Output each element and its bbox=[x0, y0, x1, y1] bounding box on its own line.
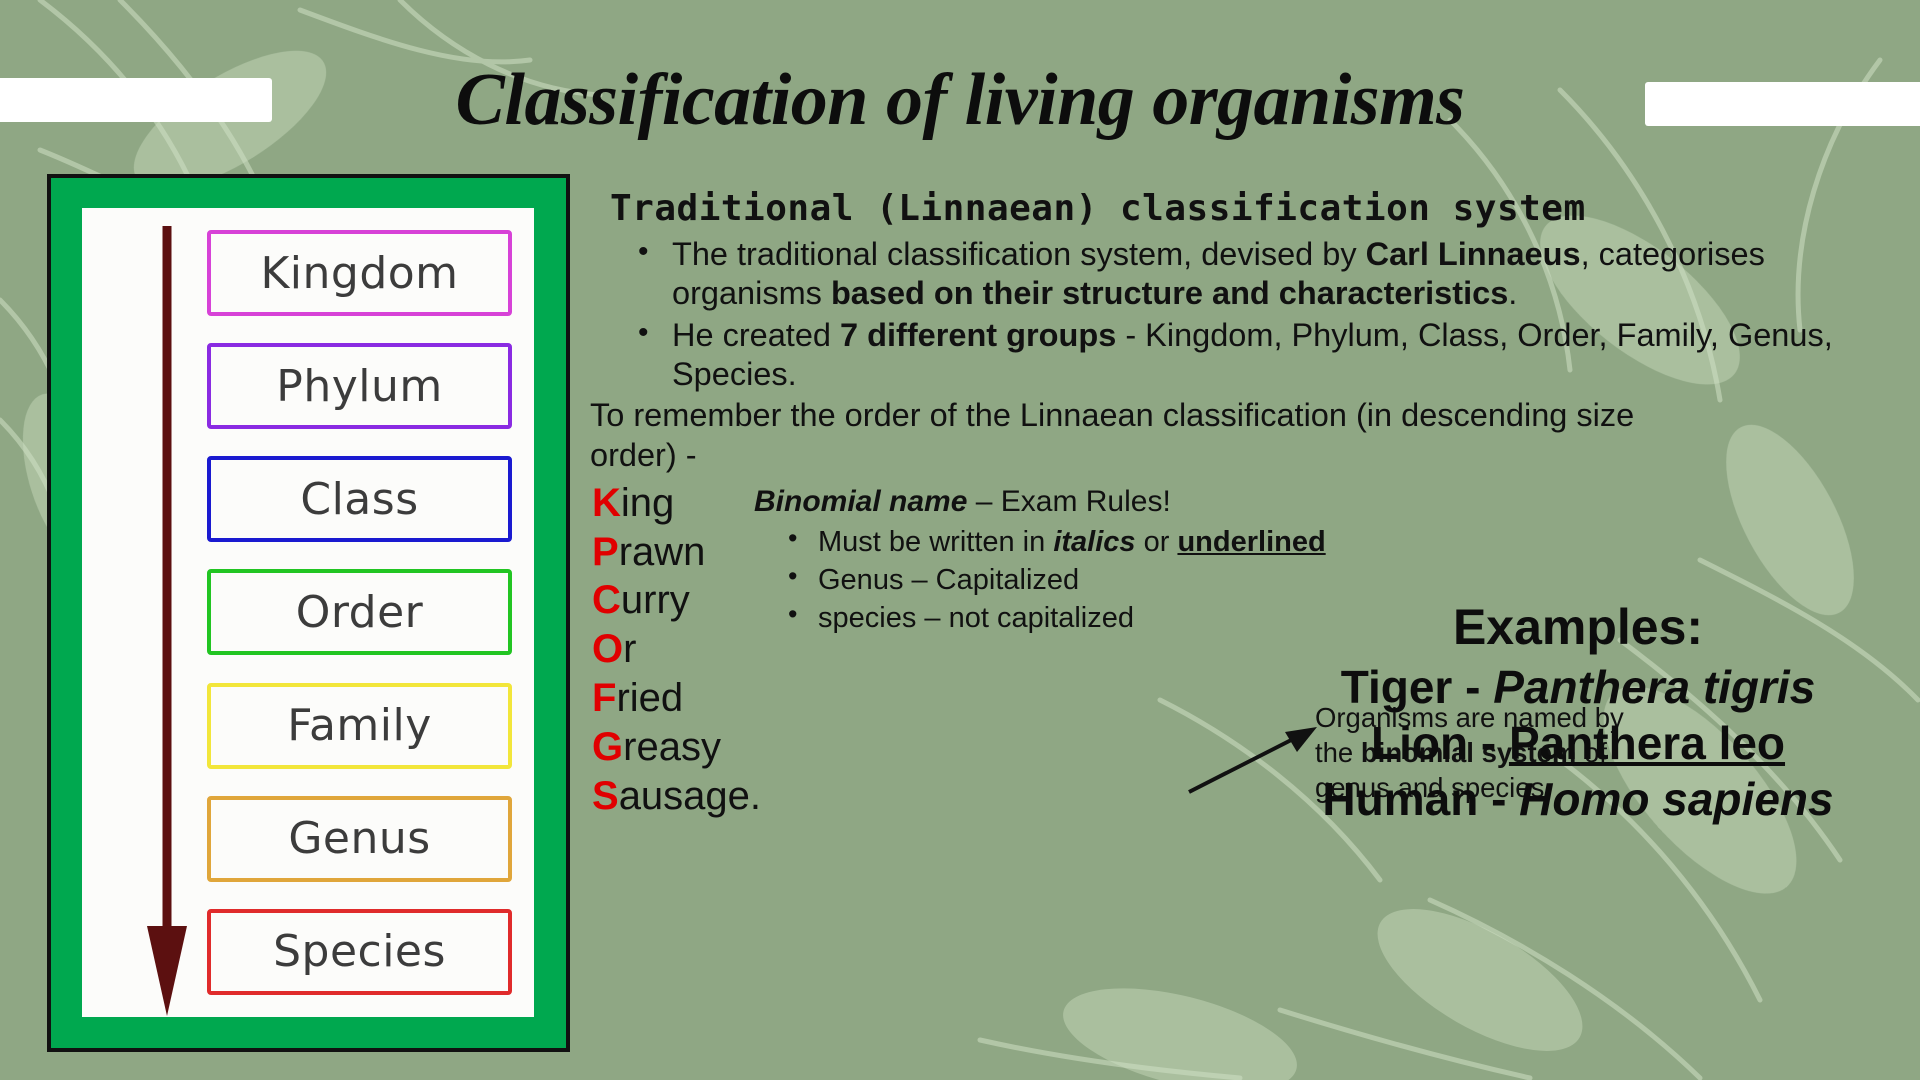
linnaean-system-heading: Traditional (Linnaean) classification sy… bbox=[610, 188, 1910, 229]
rank-box-phylum: Phylum bbox=[207, 343, 512, 429]
text-part-0: Must be written in bbox=[818, 526, 1053, 558]
mnemonic-word-6: Greasy bbox=[592, 723, 740, 772]
example-line-1: Tiger - Panthera tigris bbox=[1258, 659, 1898, 715]
linnaean-bullet-list: The traditional classification system, d… bbox=[616, 235, 1910, 394]
binomial-name-title: Binomial name – Exam Rules! bbox=[754, 485, 1910, 519]
mnemonic-rest: ing bbox=[621, 481, 674, 525]
mnemonic-initial: F bbox=[592, 676, 616, 720]
text-part-0: Genus – Capitalized bbox=[818, 564, 1079, 596]
text-part-0: species – not capitalized bbox=[818, 602, 1134, 634]
text-part-0: The traditional classification system, d… bbox=[672, 236, 1366, 272]
rank-label: Order bbox=[296, 587, 424, 638]
example-line-2: Lion - Panthera leo bbox=[1258, 715, 1898, 771]
rank-label: Family bbox=[287, 700, 432, 751]
text-part-3: based on their structure and characteris… bbox=[831, 275, 1508, 311]
example-common-name: Tiger - bbox=[1341, 661, 1494, 713]
example-scientific-name: Homo sapiens bbox=[1519, 773, 1833, 825]
rank-box-genus: Genus bbox=[207, 796, 512, 882]
mnemonic-initial: S bbox=[592, 774, 619, 818]
mnemonic-word-7: Sausage. bbox=[592, 772, 740, 821]
rank-box-family: Family bbox=[207, 683, 512, 769]
text-part-1: Carl Linnaeus bbox=[1366, 236, 1581, 272]
mnemonic-intro-text: To remember the order of the Linnaean cl… bbox=[590, 396, 1650, 475]
examples-list: Tiger - Panthera tigrisLion - Panthera l… bbox=[1258, 659, 1898, 827]
text-part-3: underlined bbox=[1177, 526, 1325, 558]
mnemonic-initial: P bbox=[592, 530, 619, 574]
example-line-3: Human - Homo sapiens bbox=[1258, 771, 1898, 827]
text-part-1: 7 different groups bbox=[840, 317, 1116, 353]
binomial-title-rest: – Exam Rules! bbox=[967, 485, 1170, 518]
mnemonic-word-1: King bbox=[592, 479, 740, 528]
example-common-name: Human - bbox=[1322, 773, 1519, 825]
mnemonic-word-4: Or bbox=[592, 625, 740, 674]
mnemonic-word-2: Prawn bbox=[592, 528, 740, 577]
mnemonic-initial: G bbox=[592, 725, 623, 769]
rank-box-class: Class bbox=[207, 456, 512, 542]
example-scientific-name: Panthera leo bbox=[1509, 717, 1785, 769]
mnemonic-initial: K bbox=[592, 481, 621, 525]
rank-label: Phylum bbox=[276, 361, 442, 412]
taxonomy-hierarchy-card: KingdomPhylumClassOrderFamilyGenusSpecie… bbox=[47, 174, 570, 1052]
rank-box-species: Species bbox=[207, 909, 512, 995]
examples-title: Examples: bbox=[1258, 598, 1898, 657]
mnemonic-rest: ried bbox=[616, 676, 683, 720]
mnemonic-word-5: Fried bbox=[592, 674, 740, 723]
rank-label: Genus bbox=[288, 813, 430, 864]
exam-rule-1: Must be written in italics or underlined bbox=[774, 523, 1910, 561]
exam-rule-2: Genus – Capitalized bbox=[774, 561, 1910, 599]
descending-order-arrow-icon bbox=[144, 226, 190, 1016]
rank-label: Kingdom bbox=[260, 248, 458, 299]
examples-block: Examples: Tiger - Panthera tigrisLion - … bbox=[1258, 598, 1898, 827]
page-title: Classification of living organisms bbox=[0, 58, 1920, 143]
example-scientific-name: Panthera tigris bbox=[1493, 661, 1815, 713]
mnemonic-rest: rawn bbox=[619, 530, 706, 574]
binomial-title-bold: Binomial name bbox=[754, 485, 967, 518]
text-part-0: He created bbox=[672, 317, 840, 353]
example-common-name: Lion - bbox=[1371, 717, 1509, 769]
mnemonic-initial: C bbox=[592, 578, 621, 622]
kpcofgs-mnemonic-list: KingPrawnCurryOrFriedGreasySausage. bbox=[590, 479, 740, 821]
rank-box-order: Order bbox=[207, 569, 512, 655]
taxonomy-inner-panel: KingdomPhylumClassOrderFamilyGenusSpecie… bbox=[82, 208, 534, 1017]
rank-label: Class bbox=[300, 474, 418, 525]
rank-label: Species bbox=[273, 926, 446, 977]
mnemonic-rest: r bbox=[623, 627, 636, 671]
mnemonic-word-3: Curry bbox=[592, 576, 740, 625]
mnemonic-rest: reasy bbox=[623, 725, 721, 769]
text-part-2: or bbox=[1136, 526, 1178, 558]
linnaean-bullet-2: He created 7 different groups - Kingdom,… bbox=[616, 316, 1910, 395]
mnemonic-rest: urry bbox=[621, 578, 690, 622]
taxonomic-rank-list: KingdomPhylumClassOrderFamilyGenusSpecie… bbox=[207, 230, 512, 995]
mnemonic-initial: O bbox=[592, 627, 623, 671]
text-part-1: italics bbox=[1053, 526, 1135, 558]
rank-box-kingdom: Kingdom bbox=[207, 230, 512, 316]
text-part-4: . bbox=[1508, 275, 1517, 311]
linnaean-bullet-1: The traditional classification system, d… bbox=[616, 235, 1910, 314]
